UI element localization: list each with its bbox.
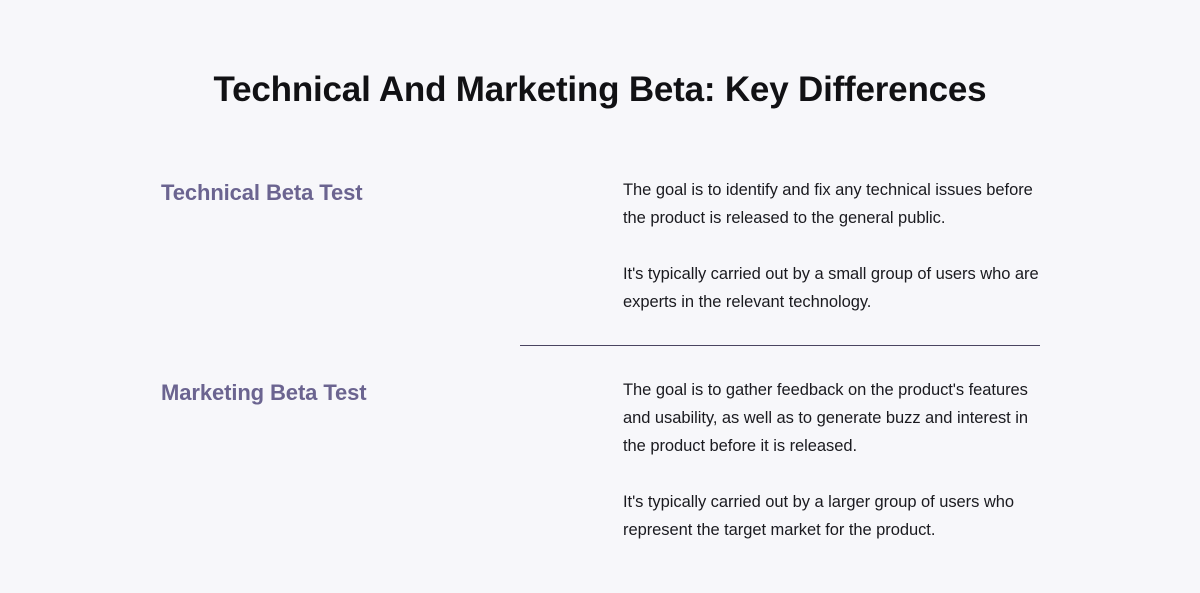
section-heading-column: Technical Beta Test bbox=[161, 176, 572, 208]
section-heading-column: Marketing Beta Test bbox=[161, 376, 572, 408]
section-paragraph: It's typically carried out by a small gr… bbox=[623, 260, 1041, 316]
comparison-content: Technical Beta Test The goal is to ident… bbox=[161, 176, 1041, 544]
section-technical-beta-test: Technical Beta Test The goal is to ident… bbox=[161, 176, 1041, 345]
section-paragraph: It's typically carried out by a larger g… bbox=[623, 488, 1041, 544]
section-paragraph: The goal is to gather feedback on the pr… bbox=[623, 376, 1041, 460]
section-marketing-beta-test: Marketing Beta Test The goal is to gathe… bbox=[161, 345, 1041, 544]
section-paragraph: The goal is to identify and fix any tech… bbox=[623, 176, 1041, 232]
slide-canvas: Technical And Marketing Beta: Key Differ… bbox=[0, 0, 1200, 593]
page-title: Technical And Marketing Beta: Key Differ… bbox=[0, 68, 1200, 112]
section-heading-technical: Technical Beta Test bbox=[161, 178, 572, 208]
section-body-column: The goal is to gather feedback on the pr… bbox=[572, 376, 1041, 544]
section-body-column: The goal is to identify and fix any tech… bbox=[572, 176, 1041, 316]
section-heading-marketing: Marketing Beta Test bbox=[161, 378, 572, 408]
